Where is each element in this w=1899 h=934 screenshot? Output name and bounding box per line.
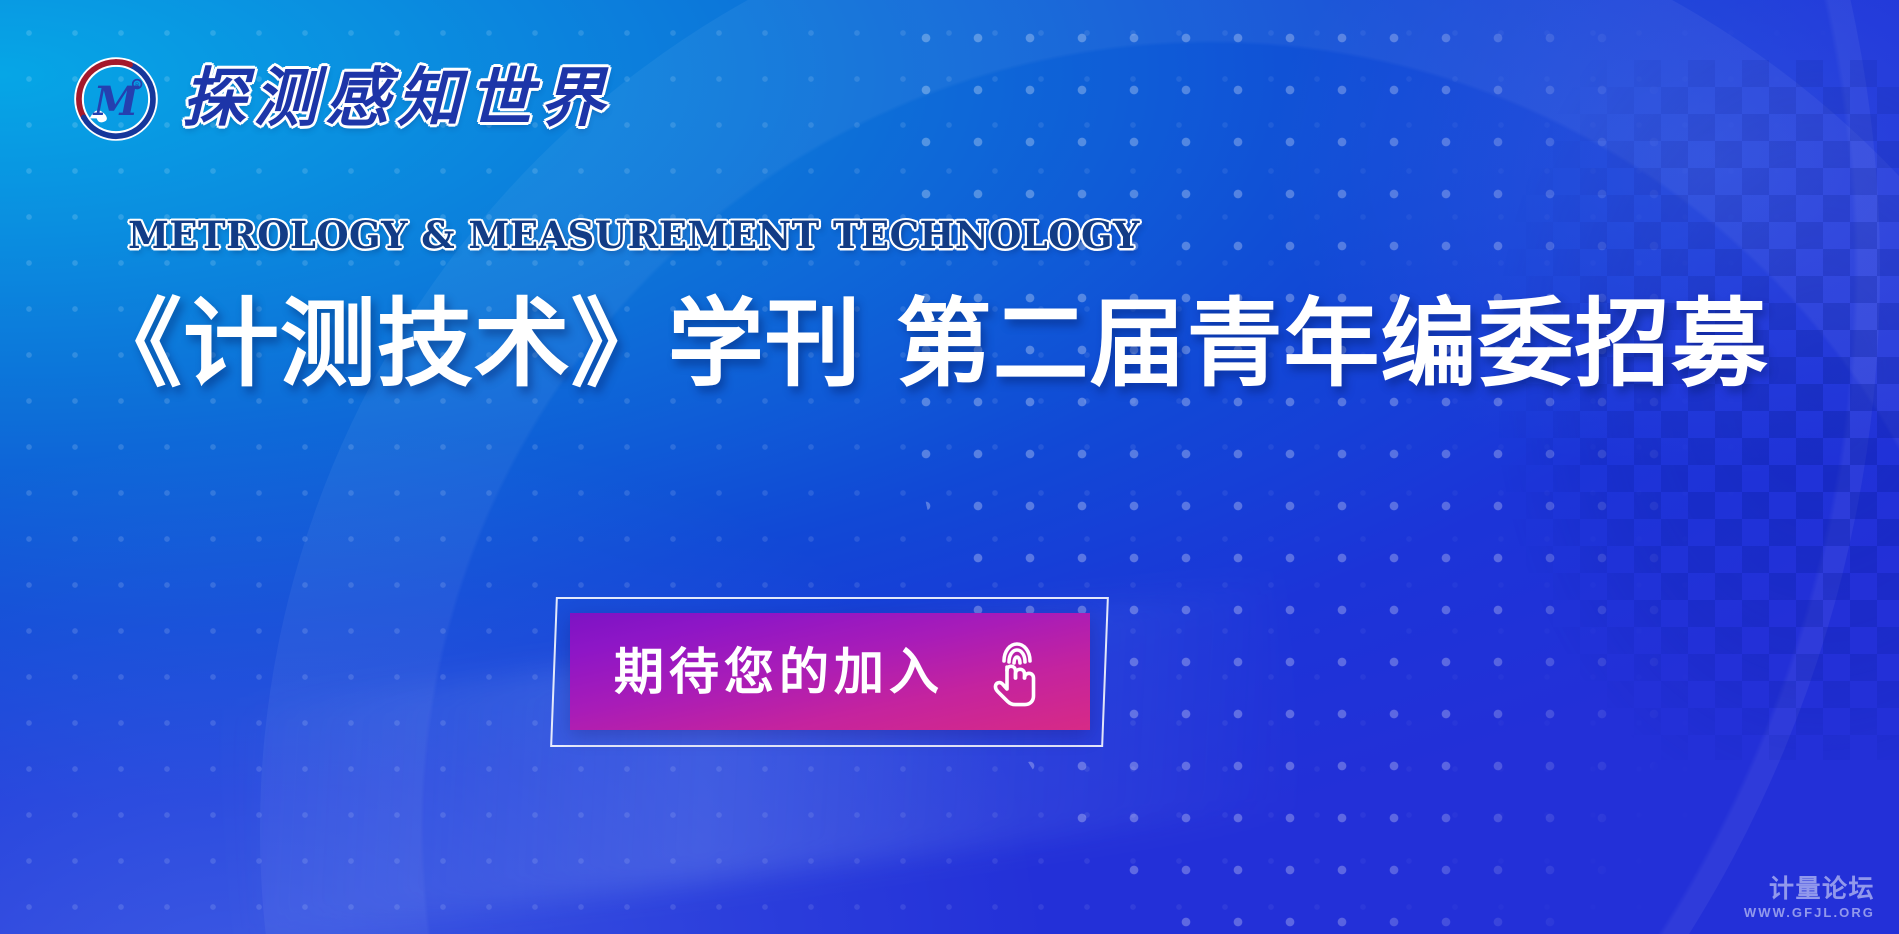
brand-slogan: 探测感知世界: [182, 67, 612, 131]
journal-english-title: METROLOGY & MEASUREMENT TECHNOLOGY: [128, 213, 1140, 257]
background-glow-top-right: [1259, 0, 1899, 480]
tap-hand-icon: [980, 637, 1046, 709]
watermark-name: 计量论坛: [1744, 875, 1875, 903]
brand-lockup: M R 探测感知世界: [72, 55, 612, 143]
headline-journal-name: 《计测技术》学刊: [86, 288, 862, 400]
page-title: 《计测技术》学刊第二届青年编委招募: [86, 288, 1826, 401]
watermark-url: WWW.GFJL.ORG: [1744, 906, 1875, 920]
promo-banner: M R 探测感知世界 METROLOGY & MEASUREMENT TECHN…: [0, 0, 1899, 934]
cta-label: 期待您的加入: [614, 647, 944, 697]
svg-text:R: R: [135, 83, 139, 89]
site-watermark: 计量论坛 WWW.GFJL.ORG: [1744, 875, 1875, 920]
headline-campaign: 第二届青年编委招募: [896, 288, 1769, 400]
circular-m-emblem-icon: M R: [72, 55, 160, 143]
join-us-button[interactable]: 期待您的加入: [570, 613, 1090, 730]
